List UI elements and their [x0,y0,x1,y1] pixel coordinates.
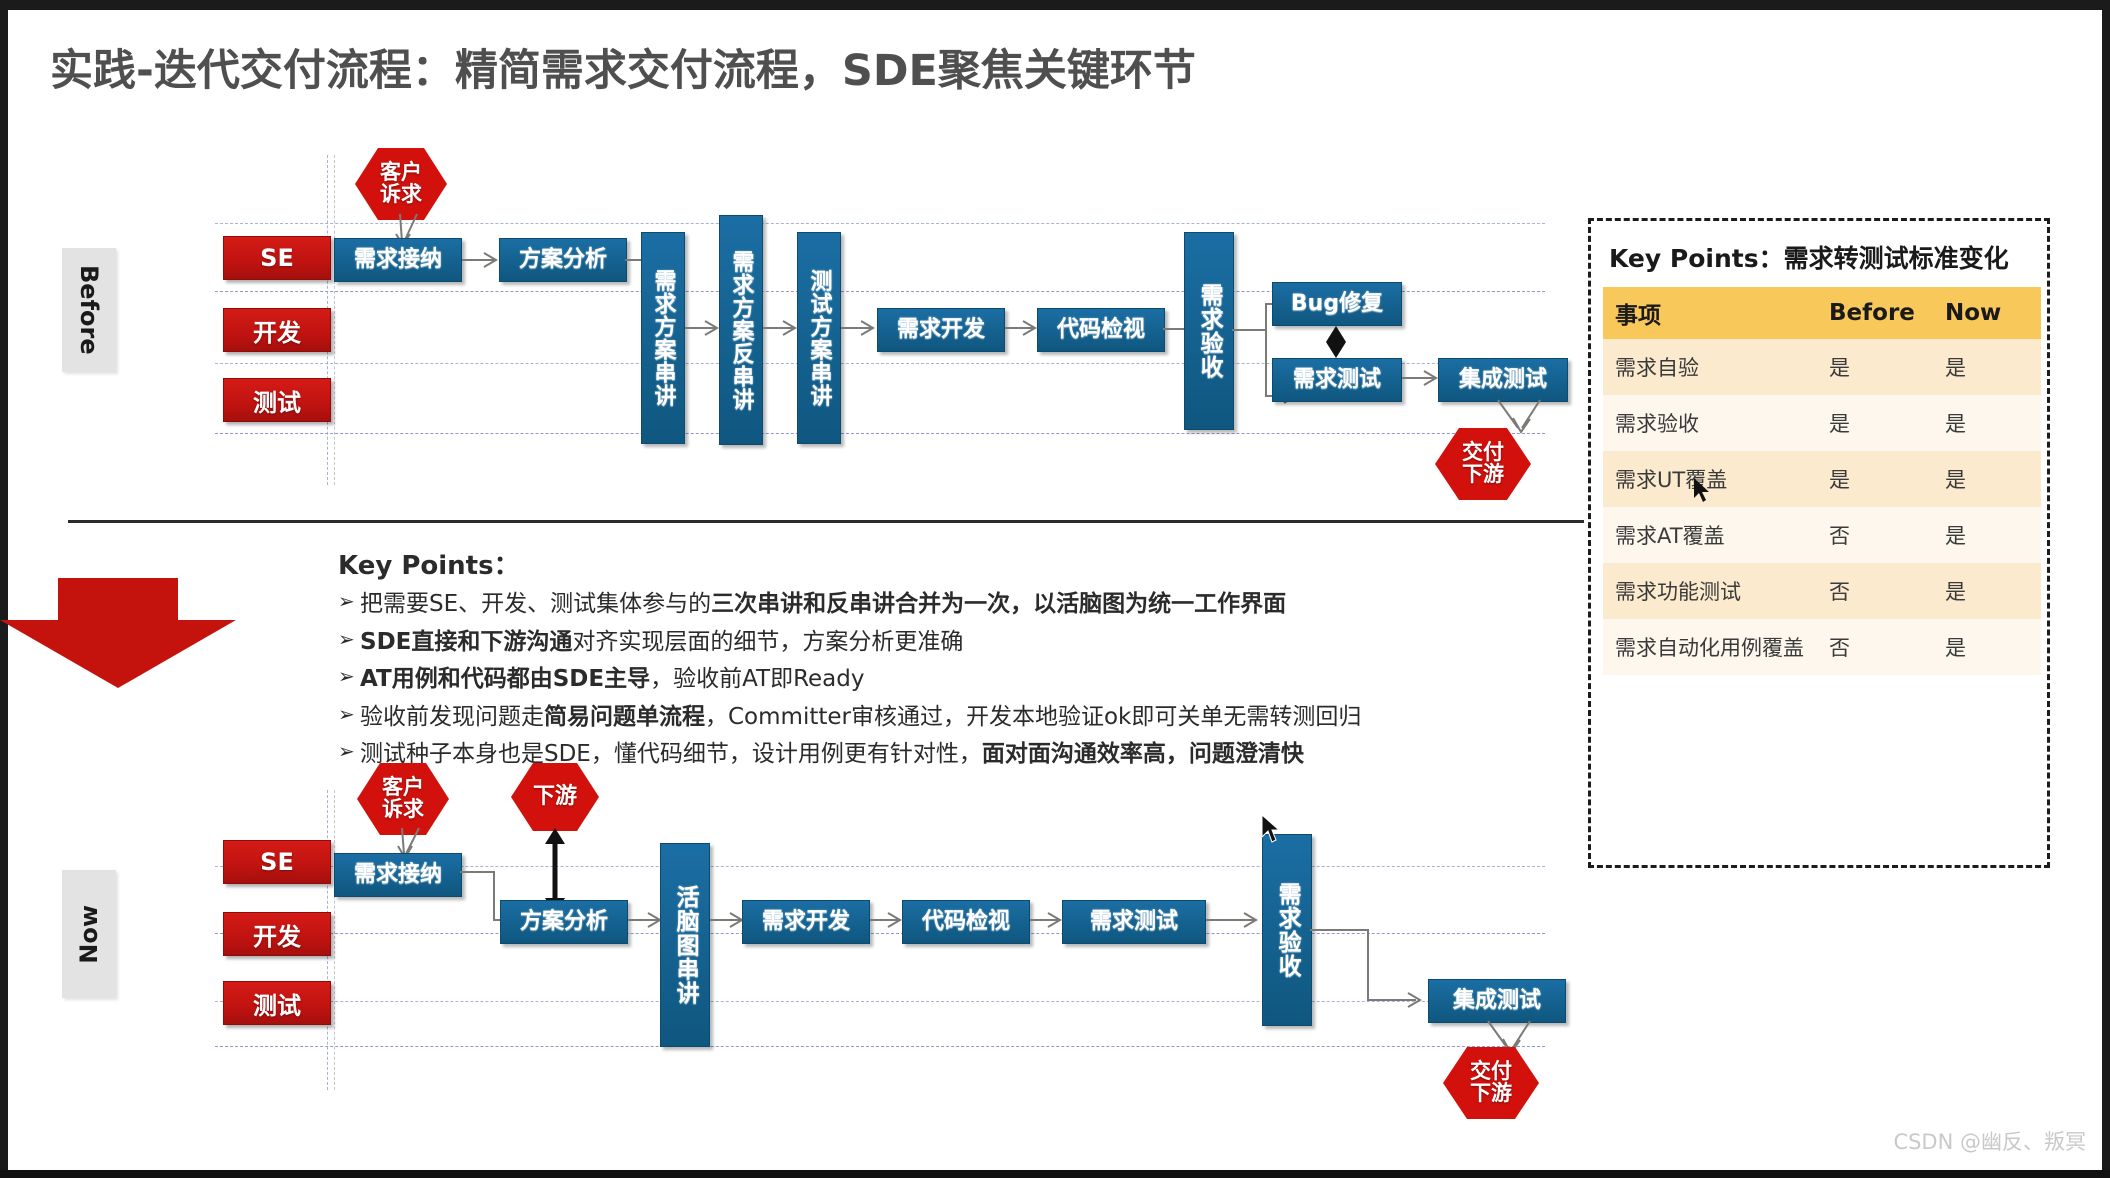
transition-down-arrow [0,578,236,688]
lane-now-test: 测试 [223,981,331,1025]
lane-before-test: 测试 [223,378,331,422]
col-header-before: Before [1817,287,1933,339]
cell-now: 是 [1933,563,2041,619]
hex-deliver-downstream-before: 交付 下游 [1435,428,1531,500]
table-row: 需求功能测试否是 [1603,563,2041,619]
arrow-acceptance-to-integration-now [1310,926,1440,1012]
frame-edge-top [0,0,2110,10]
key-point-text: AT用例和代码都由SDE主导，验收前AT即Ready [360,662,864,697]
hex-downstream-now-text: 下游 [533,786,577,809]
node-test-plan-walkthrough-before: 测试方案串讲 [797,232,841,444]
lane-before-dev: 开发 [223,308,331,352]
arrow-dev-to-review-now [868,910,904,932]
arrow-review-to-test-now [1028,910,1064,932]
node-req-acceptance-now: 需求验收 [1262,834,1312,1026]
cell-item: 需求验收 [1603,395,1817,451]
cell-item: 需求自验 [1603,339,1817,395]
phase-label-now-text: Now [75,905,103,964]
hex-deliver-before-l1: 交付 [1462,442,1504,464]
bullet-arrow-icon: ➢ [338,587,360,617]
key-point-item: ➢AT用例和代码都由SDE主导，验收前AT即Ready [338,662,1548,697]
cell-before: 是 [1817,451,1933,507]
hex-customer-demand-now-l2: 诉求 [382,799,424,821]
lane-guide-before-v2 [334,155,335,485]
table-header-row: 事项 Before Now [1603,287,2041,339]
cell-now: 是 [1933,395,2041,451]
table-body: 需求自验是是需求验收是是需求UT覆盖是是需求AT覆盖否是需求功能测试否是需求自动… [1603,339,2041,675]
arrow-intake-to-analysis-before [460,250,500,272]
cell-item: 需求AT覆盖 [1603,507,1817,563]
cell-item: 需求功能测试 [1603,563,1817,619]
node-req-dev-before: 需求开发 [877,308,1005,352]
lane-guide-before-4 [215,433,1545,434]
page-title: 实践-迭代交付流程：精简需求交付流程，SDE聚焦关键环节 [50,36,1196,98]
standard-change-table: 事项 Before Now 需求自验是是需求验收是是需求UT覆盖是是需求AT覆盖… [1603,287,2041,675]
hex-customer-demand-before: 客户 诉求 [355,148,447,220]
node-req-test-now: 需求测试 [1062,900,1206,944]
table-row: 需求验收是是 [1603,395,2041,451]
cell-now: 是 [1933,507,2041,563]
node-req-intake-before: 需求接纳 [334,238,462,282]
phase-label-before-text: Before [75,265,103,355]
diamond-connector-before [1326,326,1346,358]
table-row: 需求自动化用例覆盖否是 [1603,619,2041,675]
key-point-item: ➢测试种子本身也是SDE，懂代码细节，设计用例更有针对性，面对面沟通效率高，问题… [338,737,1548,772]
lane-now-dev: 开发 [223,912,331,956]
node-code-review-before: 代码检视 [1037,308,1165,352]
hex-customer-demand-before-l1: 客户 [380,162,422,184]
node-solution-analysis-before: 方案分析 [499,238,627,282]
node-req-dev-now: 需求开发 [742,900,870,944]
arrow-dev-to-review-before [1003,318,1039,340]
node-req-intake-now: 需求接纳 [334,853,462,897]
section-divider [68,520,1584,523]
bullet-arrow-icon: ➢ [338,625,360,655]
link-review-to-acceptance-before [1163,328,1185,330]
bullet-arrow-icon: ➢ [338,737,360,767]
bullet-arrow-icon: ➢ [338,700,360,730]
lane-guide-now-4 [215,1046,1545,1047]
arrow-mindmap-to-dev-now [708,910,746,932]
phase-label-now: Now [62,870,116,998]
lane-before-se: SE [223,236,331,280]
hex-deliver-downstream-now: 交付 下游 [1443,1047,1539,1119]
table-row: 需求自验是是 [1603,339,2041,395]
node-solution-analysis-now: 方案分析 [500,900,628,944]
phase-label-before: Before [62,248,116,372]
node-integration-test-before: 集成测试 [1438,358,1568,402]
lane-now-se: SE [223,840,331,884]
slide-canvas: 实践-迭代交付流程：精简需求交付流程，SDE聚焦关键环节 Before SE 开… [0,0,2110,1178]
cell-now: 是 [1933,451,2041,507]
key-points-block: Key Points： ➢把需要SE、开发、测试集体参与的三次串讲和反串讲合并为… [338,545,1548,775]
hex-deliver-before-l2: 下游 [1462,464,1504,486]
key-point-item: ➢验收前发现问题走简易问题单流程，Committer审核通过，开发本地验证ok即… [338,700,1548,735]
node-req-acceptance-before: 需求验收 [1184,232,1234,430]
watermark-text: CSDN @幽反、叛冥 [1893,1126,2086,1156]
arrow-analysis-to-mindmap-now [626,910,664,932]
key-point-text: 测试种子本身也是SDE，懂代码细节，设计用例更有针对性，面对面沟通效率高，问题澄… [360,737,1304,772]
key-points-list: ➢把需要SE、开发、测试集体参与的三次串讲和反串讲合并为一次，以活脑图为统一工作… [338,587,1548,772]
cell-item: 需求自动化用例覆盖 [1603,619,1817,675]
cell-before: 否 [1817,563,1933,619]
arrow-wt2-to-wt3-before [761,318,799,340]
lane-guide-now-v2 [334,790,335,1090]
node-integration-test-now: 集成测试 [1428,979,1566,1023]
arrow-reqtest-to-integration-before [1400,368,1440,390]
node-req-test-before: 需求测试 [1272,358,1402,402]
arrow-test-to-acceptance-now [1204,910,1264,932]
side-panel-title: Key Points：需求转测试标准变化 [1609,239,2009,275]
cell-before: 否 [1817,507,1933,563]
node-req-plan-walkthrough-before: 需求方案串讲 [641,232,685,444]
key-point-text: 把需要SE、开发、测试集体参与的三次串讲和反串讲合并为一次，以活脑图为统一工作界… [360,587,1286,622]
cell-before: 否 [1817,619,1933,675]
hex-customer-demand-before-l2: 诉求 [380,184,422,206]
key-point-text: 验收前发现问题走简易问题单流程，Committer审核通过，开发本地验证ok即可… [360,700,1361,735]
node-req-plan-reverse-before: 需求方案反串讲 [719,215,763,445]
cell-now: 是 [1933,339,2041,395]
frame-edge-right [2102,0,2110,1178]
key-points-heading: Key Points： [338,545,1548,582]
table-row: 需求UT覆盖是是 [1603,451,2041,507]
key-points-side-panel: Key Points：需求转测试标准变化 事项 Before Now 需求自验是… [1588,218,2050,868]
frame-edge-bottom [0,1170,2110,1178]
key-point-item: ➢把需要SE、开发、测试集体参与的三次串讲和反串讲合并为一次，以活脑图为统一工作… [338,587,1548,622]
cell-now: 是 [1933,619,2041,675]
cell-before: 是 [1817,339,1933,395]
bullet-arrow-icon: ➢ [338,662,360,692]
hex-deliver-now-l2: 下游 [1470,1083,1512,1105]
arrow-wt3-to-dev-before [839,318,877,340]
col-header-now: Now [1933,287,2041,339]
key-point-text: SDE直接和下游沟通对齐实现层面的细节，方案分析更准确 [360,625,963,660]
title-bar: 实践-迭代交付流程：精简需求交付流程，SDE聚焦关键环节 [8,10,1584,102]
table-row: 需求AT覆盖否是 [1603,507,2041,563]
arrow-wt1-to-wt2-before [683,318,721,340]
node-code-review-now: 代码检视 [902,900,1030,944]
col-header-item: 事项 [1603,287,1817,339]
key-point-item: ➢SDE直接和下游沟通对齐实现层面的细节，方案分析更准确 [338,625,1548,660]
hex-deliver-now-l1: 交付 [1470,1061,1512,1083]
cell-before: 是 [1817,395,1933,451]
hex-customer-demand-now-l1: 客户 [382,777,424,799]
node-bug-fix-before: Bug修复 [1272,282,1402,326]
node-mindmap-walkthrough-now: 活脑图串讲 [660,843,710,1047]
